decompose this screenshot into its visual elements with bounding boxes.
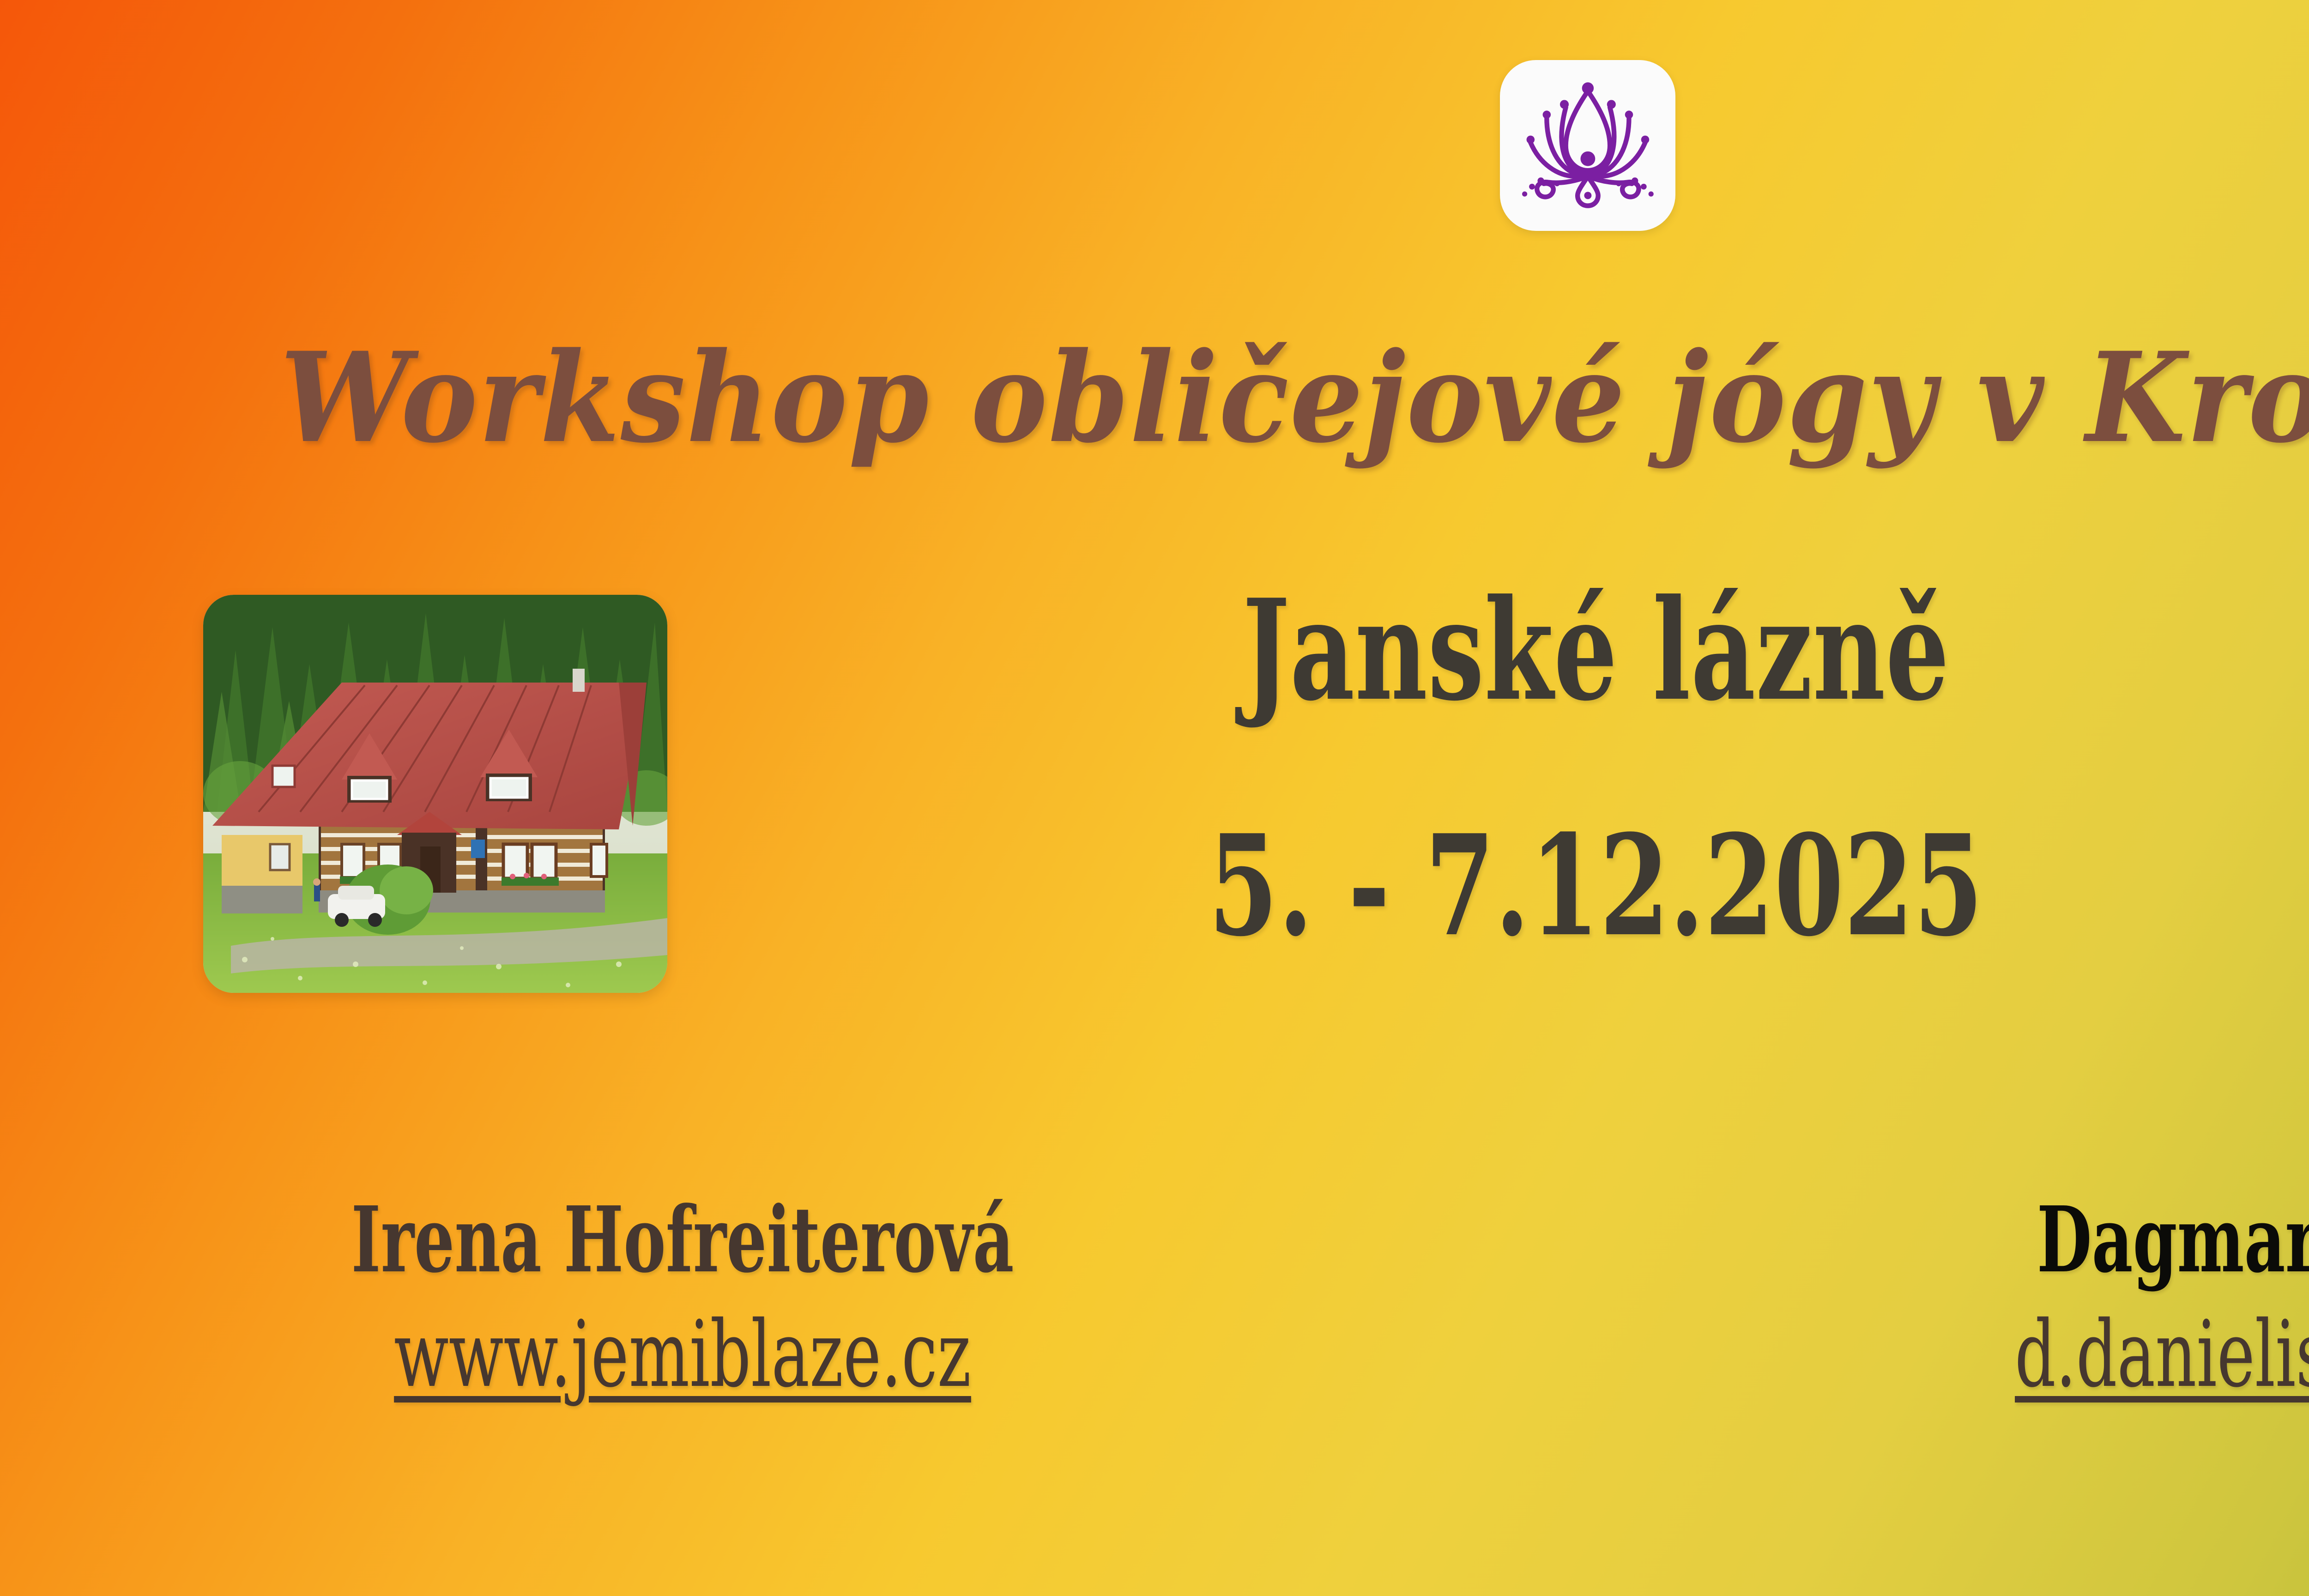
contact-email-link[interactable]: d.danielisova@email.cz (1835, 1305, 2309, 1404)
brand-logo (1500, 60, 1675, 231)
place-heading: Janské lázně (447, 581, 2309, 719)
lotus-icon (1512, 72, 1663, 219)
contact-name: Dagmar Danielisová (1835, 1191, 2309, 1289)
poster-canvas: Workshop obličejové jógy v Krokonoších (0, 0, 2309, 1596)
logo-tile (1500, 60, 1675, 231)
contact-dagmar: Dagmar Danielisová d.danielisova@email.c… (1596, 1191, 2309, 1404)
dates-heading: 5. - 7.12.2025 (447, 816, 2309, 955)
contact-irena: Irena Hofreiterová www.jemiblaze.cz (0, 1191, 1481, 1404)
contact-website-link[interactable]: www.jemiblaze.cz (124, 1305, 1241, 1404)
contacts-row: Irena Hofreiterová www.jemiblaze.cz Dagm… (0, 1191, 2309, 1404)
poster-title: Workshop obličejové jógy v Krokonoších (112, 336, 2309, 460)
contact-name: Irena Hofreiterová (124, 1191, 1241, 1289)
